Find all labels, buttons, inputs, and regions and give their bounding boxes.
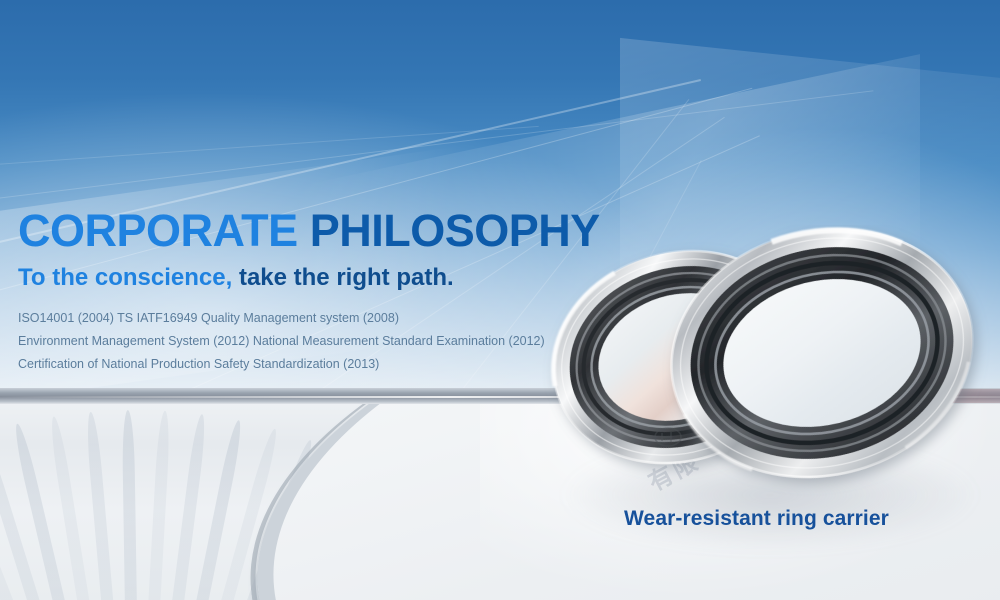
certification-item: ISO14001 (2004) TS IATF16949 Quality Man… [18, 307, 638, 330]
paving-stripe [122, 410, 142, 600]
certification-item: Certification of National Production Saf… [18, 353, 638, 376]
page-title: CORPORATE PHILOSOPHY [18, 208, 638, 255]
headline-part-1: CORPORATE [18, 205, 298, 256]
copy-block: CORPORATE PHILOSOPHY To the conscience, … [18, 208, 638, 376]
certification-item: Environment Management System (2012) Nat… [18, 330, 638, 353]
certification-list: ISO14001 (2004) TS IATF16949 Quality Man… [18, 307, 638, 376]
subheadline-part-1: To the conscience, [18, 264, 232, 291]
product-caption: Wear-resistant ring carrier [624, 507, 889, 531]
subheadline: To the conscience, take the right path. [18, 265, 638, 291]
headline-part-2: PHILOSOPHY [310, 205, 600, 256]
corporate-philosophy-banner: 有限 公司 有限 [0, 0, 1000, 600]
paving-stripe [130, 413, 208, 600]
subheadline-part-2: take the right path. [239, 264, 454, 291]
